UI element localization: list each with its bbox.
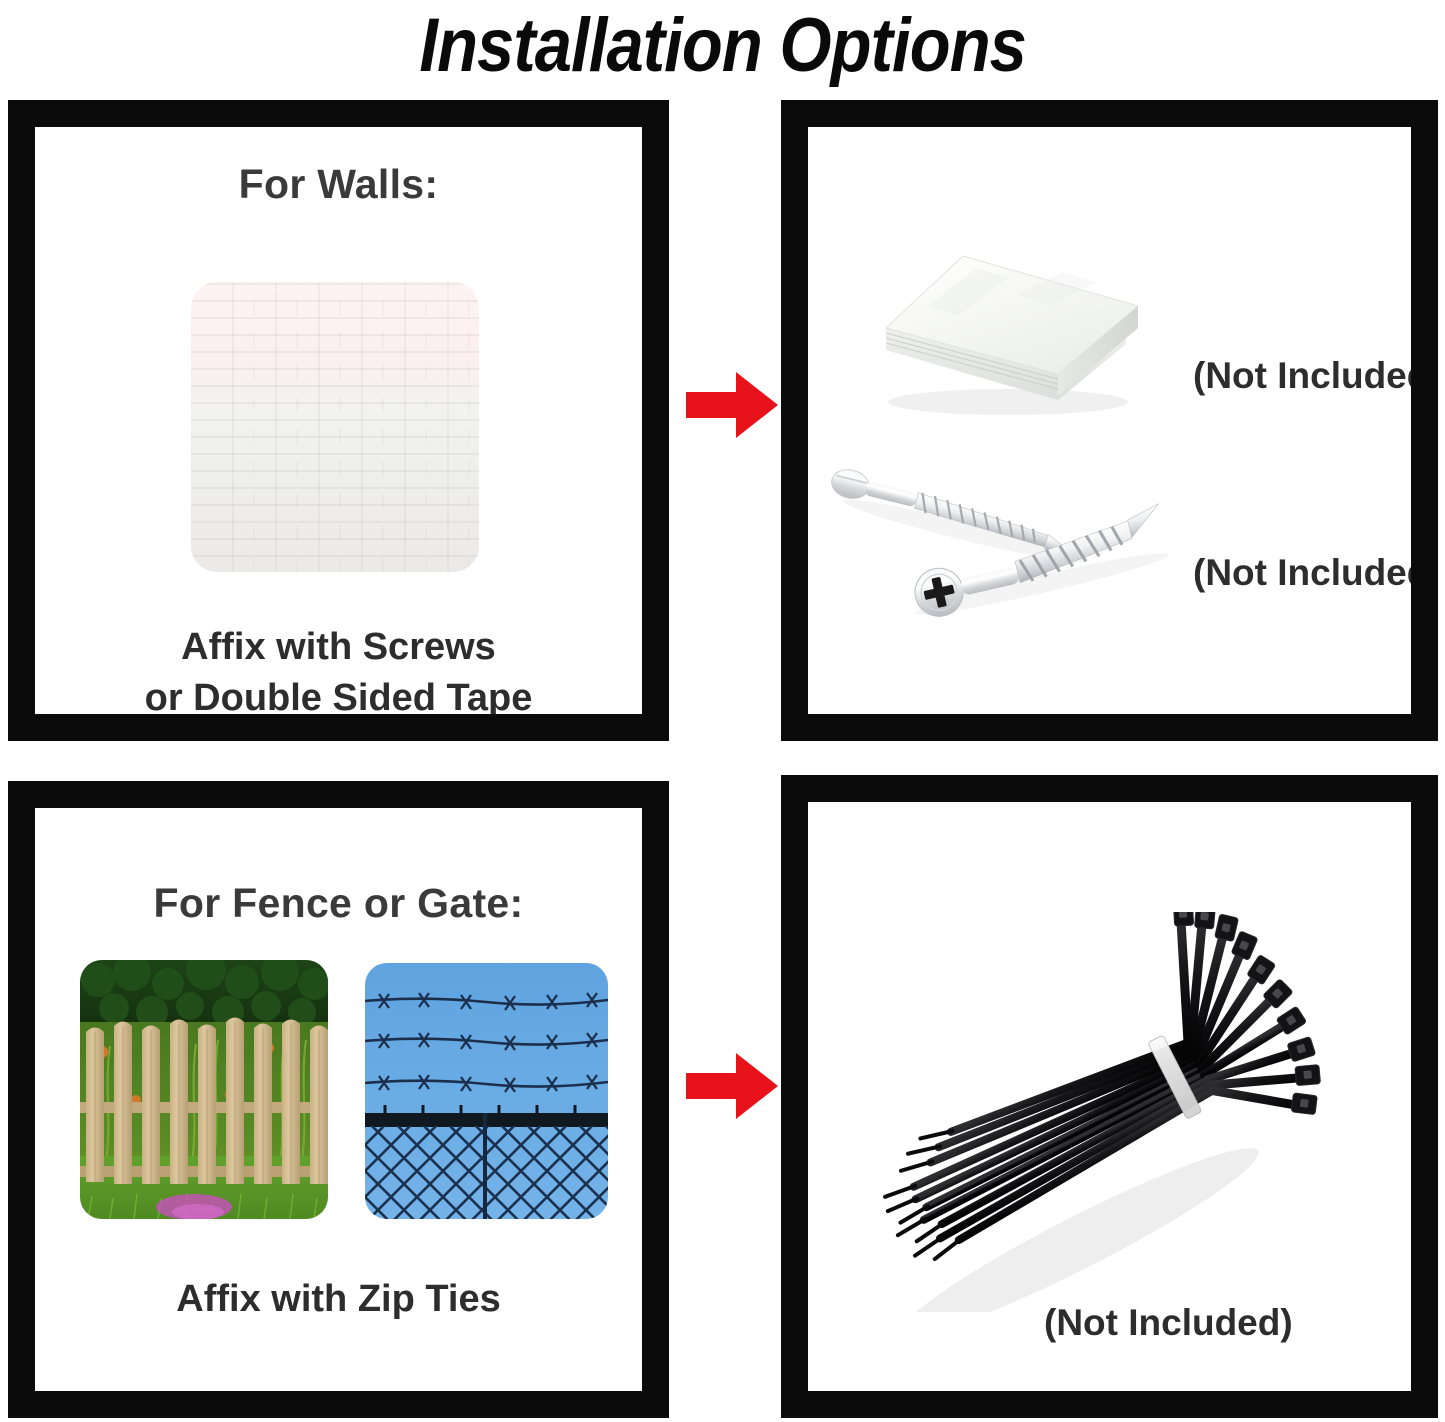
arrow-fence-to-hardware [686, 1053, 778, 1119]
page-title-bar: Installation Options [0, 0, 1445, 92]
arrow-walls-to-hardware [686, 372, 778, 438]
panel-for-fence-or-gate-content: For Fence or Gate: [35, 808, 642, 1391]
panel-for-walls-caption-line-2: or Double Sided Tape [35, 673, 642, 714]
panel-fence-hardware: (Not Included) [781, 775, 1438, 1418]
page-title: Installation Options [419, 8, 1026, 84]
panel-for-walls-heading: For Walls: [35, 161, 642, 208]
wood-screws [822, 457, 1182, 637]
panel-for-walls-content: For Walls: Affix with Screws or Double S… [35, 127, 642, 714]
white-brick-wall-swatch [191, 282, 479, 572]
panel-fence-hardware-content: (Not Included) [808, 802, 1411, 1391]
wooden-picket-fence-photo [80, 960, 328, 1219]
panel-for-walls: For Walls: Affix with Screws or Double S… [8, 100, 669, 741]
chain-link-barbed-wire-fence-photo [365, 963, 608, 1219]
panel-for-walls-caption-line-1: Affix with Screws [35, 622, 642, 673]
panel-for-fence-heading: For Fence or Gate: [35, 880, 642, 927]
double-sided-tape-stack [858, 232, 1148, 422]
panel-wall-hardware: (Not Included) [781, 100, 1438, 741]
panel-for-fence-or-gate: For Fence or Gate: [8, 781, 669, 1418]
panel-wall-hardware-content: (Not Included) [808, 127, 1411, 714]
black-zip-tie-bundle [830, 912, 1370, 1312]
panel-for-fence-caption-line-1: Affix with Zip Ties [35, 1274, 642, 1325]
tape-not-included-label: (Not Included) [1193, 355, 1411, 397]
zip-ties-not-included-label: (Not Included) [1044, 1302, 1293, 1344]
screws-not-included-label: (Not Included) [1193, 552, 1411, 594]
